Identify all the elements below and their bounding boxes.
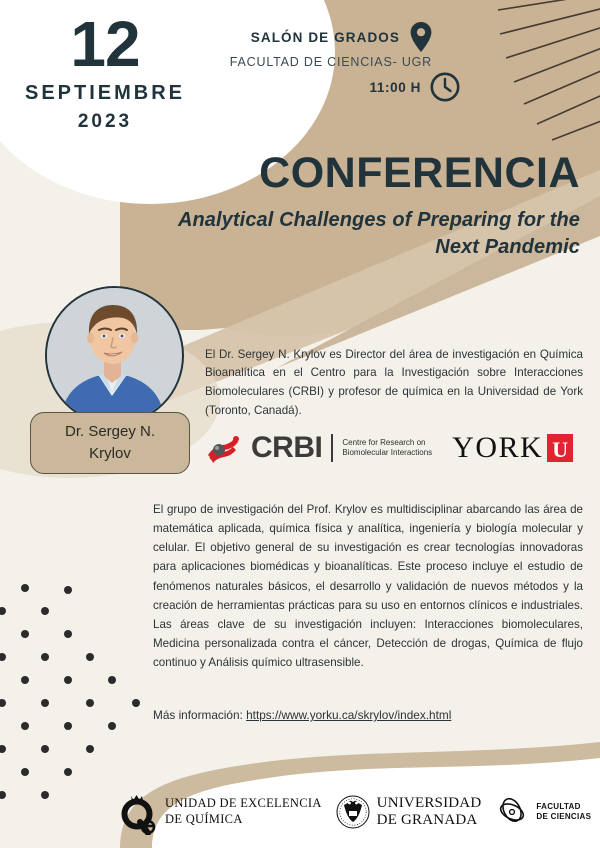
crbi-subtitle: Centre for Research on Biomolecular Inte… (342, 438, 432, 458)
faculty-text: FACULTAD DE CIENCIAS (536, 802, 591, 823)
affiliation-logos: CRBI Centre for Research on Biomolecular… (206, 425, 586, 471)
qe-line2: DE QUÍMICA (165, 812, 243, 826)
york-logo: YORK U (452, 433, 573, 463)
faculty-line1: FACULTAD (536, 802, 580, 811)
venue-name-row: SALÓN DE GRADOS (230, 22, 432, 52)
crbi-subtitle-line2: Biomolecular Interactions (342, 448, 432, 457)
venue-name: SALÓN DE GRADOS (251, 30, 400, 45)
speaker-name-line2: Krylov (37, 443, 183, 465)
faculty-atom-icon (495, 796, 529, 828)
more-info-label: Más información: (153, 708, 246, 722)
qe-line1: UNIDAD DE EXCELENCIA (165, 796, 322, 810)
ugr-line2: DE GRANADA (377, 812, 478, 828)
crbi-acronym: CRBI (251, 433, 322, 463)
venue-faculty: FACULTAD DE CIENCIAS- UGR (230, 55, 432, 69)
york-u-icon: U (547, 434, 573, 462)
crbi-divider (331, 434, 333, 462)
headline-block: CONFERENCIA Analytical Challenges of Pre… (170, 152, 580, 261)
more-info-link[interactable]: https://www.yorku.ca/skrylov/index.html (246, 708, 451, 722)
qe-crown-icon (118, 789, 158, 835)
speaker-bio: El Dr. Sergey N. Krylov es Director del … (205, 346, 583, 421)
crbi-molecule-icon (206, 433, 246, 463)
clock-icon (430, 72, 460, 102)
qe-logo: UNIDAD DE EXCELENCIA DE QUÍMICA (118, 789, 322, 835)
date-year: 2023 (78, 111, 132, 133)
map-pin-icon (410, 22, 432, 52)
date-block: 12 SEPTIEMBRE 2023 (0, 0, 210, 160)
speaker-name-badge: Dr. Sergey N. Krylov (30, 412, 190, 474)
speaker-portrait (45, 286, 184, 425)
time-label: 11:00 H (370, 80, 421, 95)
speaker-name-line1: Dr. Sergey N. (37, 421, 183, 443)
ugr-text: UNIVERSIDAD DE GRANADA (377, 795, 482, 830)
more-info-line: Más información: https://www.yorku.ca/sk… (153, 708, 583, 722)
qe-text: UNIDAD DE EXCELENCIA DE QUÍMICA (165, 796, 322, 827)
time-block: 11:00 H (370, 72, 460, 102)
ugr-line1: UNIVERSIDAD (377, 795, 482, 811)
conference-title: Analytical Challenges of Preparing for t… (170, 207, 580, 261)
conference-kicker: CONFERENCIA (170, 152, 580, 195)
york-wordmark: YORK (452, 433, 543, 463)
body-paragraph: El grupo de investigación del Prof. Kryl… (153, 500, 583, 673)
faculty-logo: FACULTAD DE CIENCIAS (495, 796, 591, 828)
footer-logos: UNIDAD DE EXCELENCIA DE QUÍMICA UNIVERSI… (0, 776, 600, 848)
faculty-line2: DE CIENCIAS (536, 812, 591, 821)
ugr-seal-icon (336, 793, 370, 831)
crbi-logo: CRBI Centre for Research on Biomolecular… (206, 433, 432, 463)
poster-root: 12 SEPTIEMBRE 2023 SALÓN DE GRADOS FACUL… (0, 0, 600, 848)
date-month: SEPTIEMBRE (25, 82, 185, 105)
date-day: 12 (70, 12, 139, 76)
ugr-logo: UNIVERSIDAD DE GRANADA (336, 793, 482, 831)
venue-block: SALÓN DE GRADOS FACULTAD DE CIENCIAS- UG… (230, 22, 432, 69)
crbi-subtitle-line1: Centre for Research on (342, 438, 425, 447)
